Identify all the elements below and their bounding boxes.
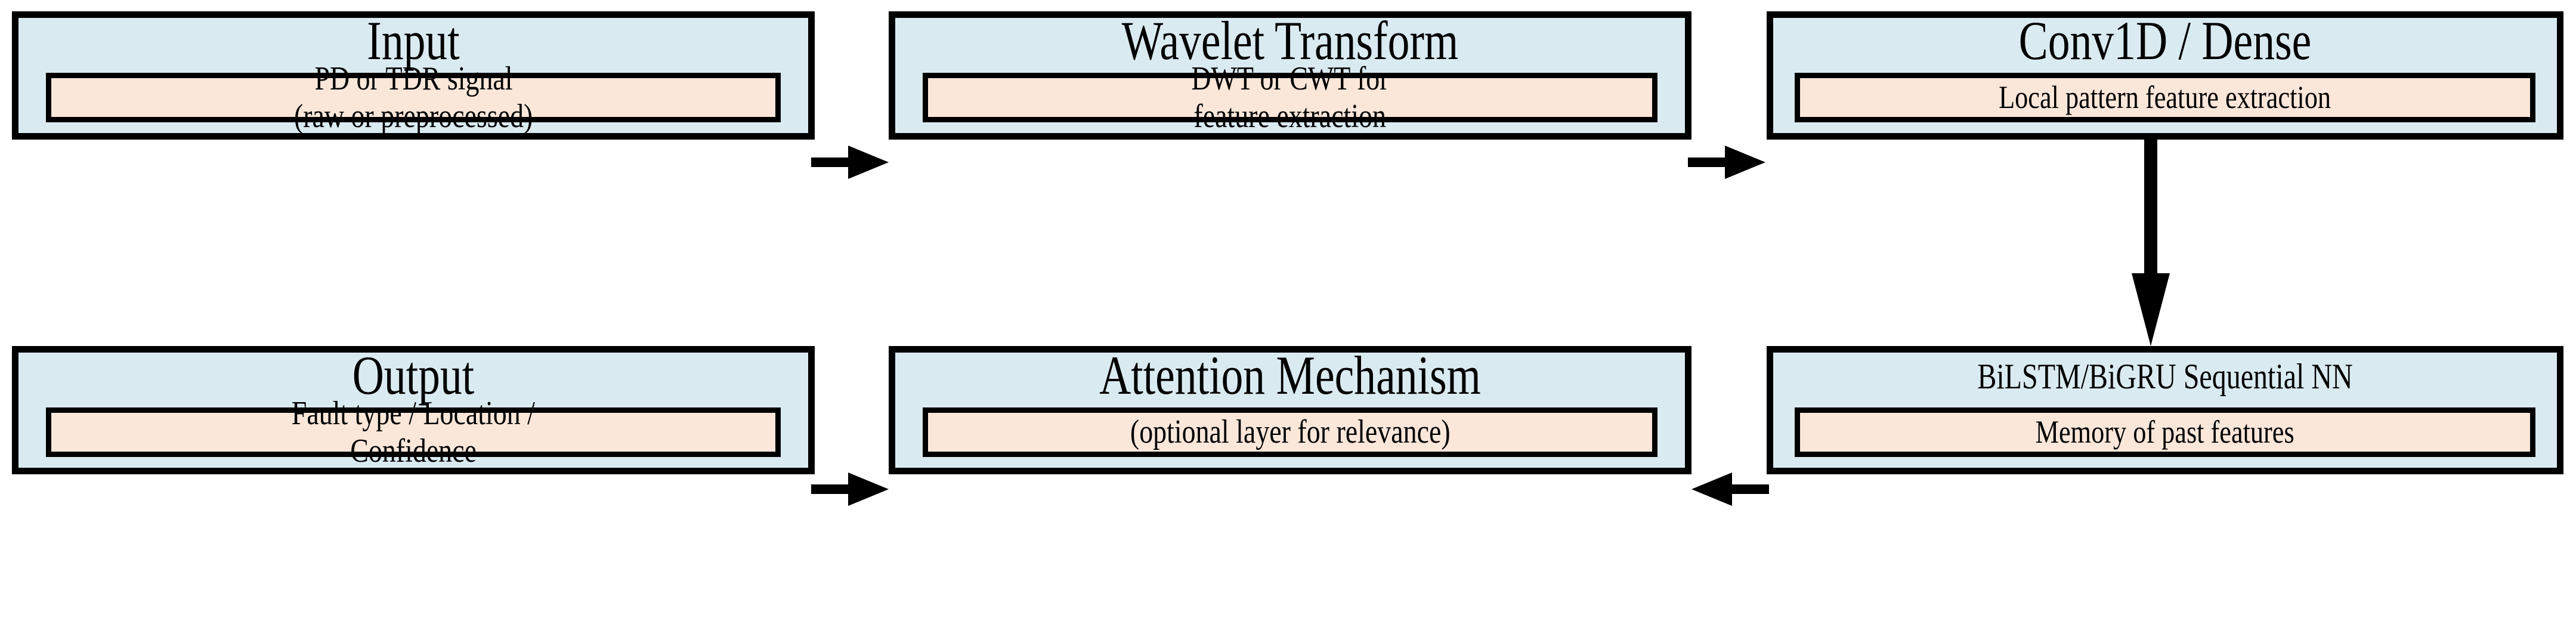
node-input[interactable]: Input PD or TDR signal (raw or preproces… bbox=[12, 11, 815, 140]
node-input-detail-line-2: (raw or preprocessed) bbox=[294, 98, 533, 135]
node-output[interactable]: Output Fault type / Location / Confidenc… bbox=[12, 346, 815, 474]
node-wavelet-transform[interactable]: Wavelet Transform DWT or CWT for feature… bbox=[889, 11, 1691, 140]
node-output-detail: Fault type / Location / Confidence bbox=[46, 407, 781, 457]
node-conv1d-dense[interactable]: Conv1D / Dense Local pattern feature ext… bbox=[1767, 11, 2563, 140]
node-wavelet-detail-line-1: DWT or CWT for bbox=[1191, 60, 1388, 98]
node-bilstm-bigru-title: BiLSTM/BiGRU Sequential NN bbox=[1851, 359, 2478, 394]
connector-output-attention bbox=[811, 469, 892, 509]
node-attention-mechanism-detail: (optional layer for relevance) bbox=[923, 407, 1657, 457]
connector-input-to-wavelet bbox=[811, 142, 892, 183]
connector-bilstm-to-attention bbox=[1688, 469, 1769, 509]
node-output-detail-line-1: Fault type / Location / bbox=[292, 395, 535, 433]
node-wavelet-detail-line-2: feature extraction bbox=[1194, 98, 1387, 135]
node-attention-mechanism-title: Attention Mechanism bbox=[974, 348, 1606, 403]
node-input-detail-line-1: PD or TDR signal bbox=[314, 60, 512, 98]
node-conv-detail-line-1: Local pattern feature extraction bbox=[1999, 79, 2331, 115]
connector-conv1d-to-bilstm bbox=[2128, 136, 2173, 351]
connector-wavelet-to-conv1d bbox=[1688, 142, 1769, 183]
node-conv1d-dense-detail: Local pattern feature extraction bbox=[1795, 73, 2535, 122]
node-output-detail-line-2: Confidence bbox=[350, 433, 477, 470]
node-attention-detail-line-1: (optional layer for relevance) bbox=[1130, 413, 1451, 451]
node-attention-mechanism[interactable]: Attention Mechanism (optional layer for … bbox=[889, 346, 1691, 474]
node-conv1d-dense-title: Conv1D / Dense bbox=[1851, 13, 2478, 68]
node-bilstm-bigru[interactable]: BiLSTM/BiGRU Sequential NN Memory of pas… bbox=[1767, 346, 2563, 474]
diagram-canvas: Input PD or TDR signal (raw or preproces… bbox=[0, 0, 2576, 630]
node-input-detail: PD or TDR signal (raw or preprocessed) bbox=[46, 73, 781, 122]
node-bilstm-detail-line-1: Memory of past features bbox=[2036, 414, 2294, 450]
node-wavelet-transform-detail: DWT or CWT for feature extraction bbox=[923, 73, 1657, 122]
node-bilstm-bigru-detail: Memory of past features bbox=[1795, 407, 2535, 457]
